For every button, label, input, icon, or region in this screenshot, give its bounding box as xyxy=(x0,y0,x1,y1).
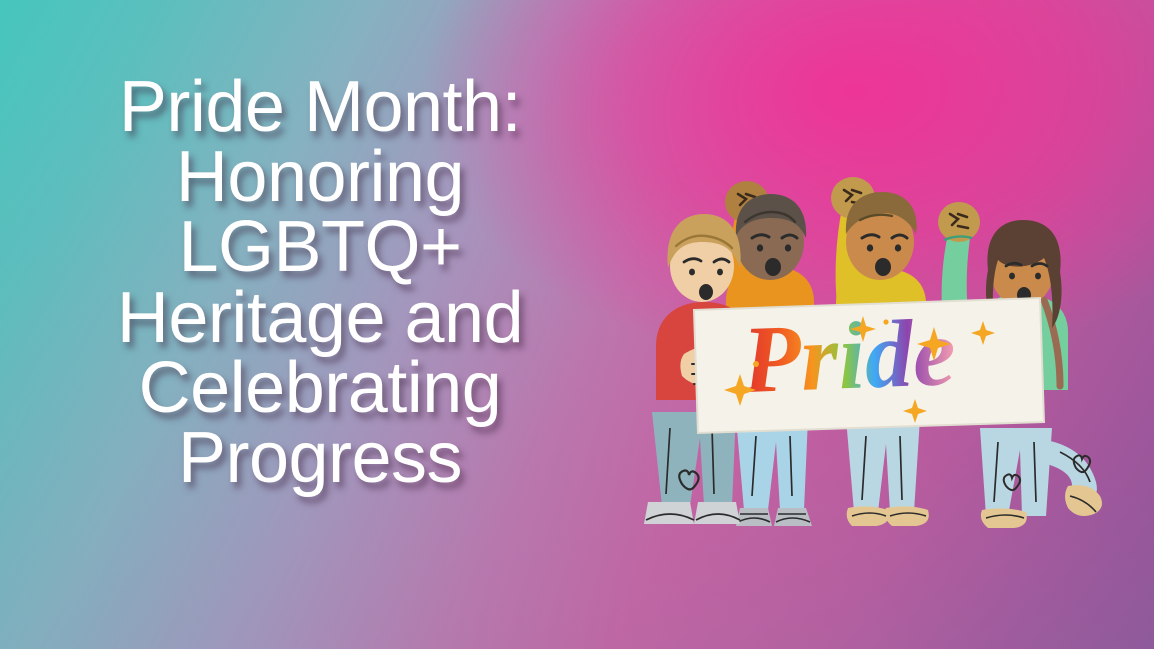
headline-line-4: Heritage and xyxy=(60,283,580,353)
headline-line-5: Celebrating xyxy=(60,353,580,423)
person-4-legs xyxy=(980,428,1052,516)
headline-line-3: LGBTQ+ xyxy=(60,212,580,282)
person-3-legs xyxy=(846,418,920,512)
banner-pride-word: Pride xyxy=(739,298,957,413)
person-1-mouth xyxy=(699,284,713,300)
headline-line-6: Progress xyxy=(60,423,580,493)
page-title: Pride Month: Honoring LGBTQ+ Heritage an… xyxy=(60,72,580,493)
person-1-shoe-left xyxy=(644,502,694,524)
person-2-shoe-left xyxy=(736,508,772,526)
person-1-shoe-right xyxy=(694,502,740,524)
person-2-mouth xyxy=(765,258,781,276)
headline-line-1: Pride Month: xyxy=(60,72,580,142)
pride-banner: Pride xyxy=(694,298,1044,433)
pride-month-banner-graphic: Pride Month: Honoring LGBTQ+ Heritage an… xyxy=(0,0,1154,649)
person-2-shoe-right xyxy=(774,508,812,526)
headline-line-2: Honoring xyxy=(60,142,580,212)
protesters-illustration: Pride xyxy=(640,150,1110,570)
person-3-mouth xyxy=(875,258,891,276)
